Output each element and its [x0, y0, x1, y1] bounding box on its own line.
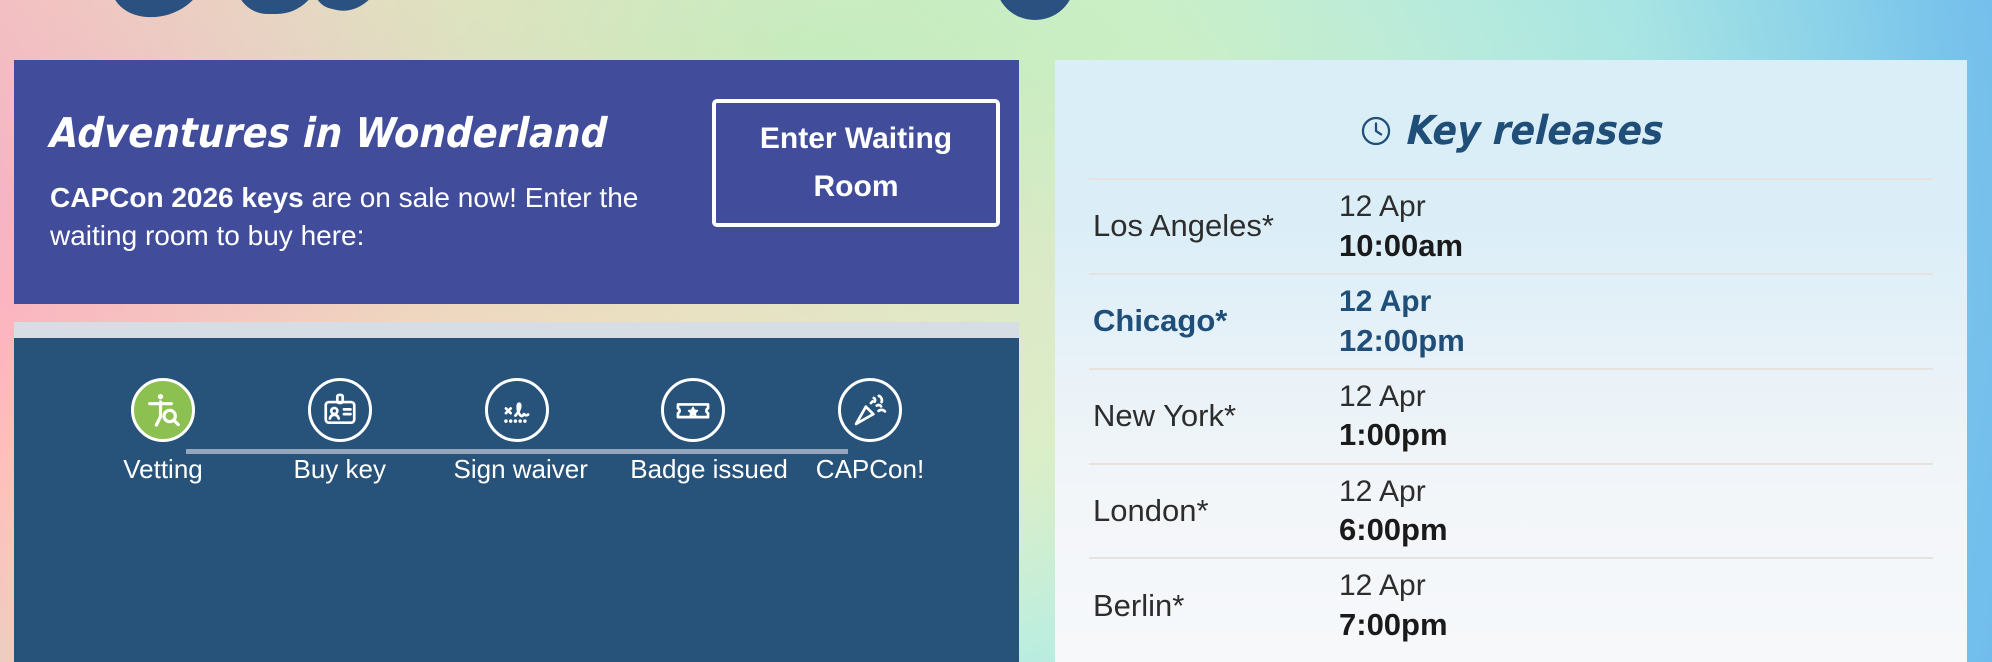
enter-waiting-room-button[interactable]: Enter Waiting Room: [712, 99, 1000, 227]
step-buy-key-label: Buy key: [277, 454, 403, 485]
step-badge-issued-label: Badge issued: [630, 454, 756, 485]
party-popper-icon: [851, 391, 889, 429]
promo-banner: Adventures in Wonderland CAPCon 2026 key…: [14, 60, 1019, 304]
promo-body-bold: CAPCon 2026 keys: [50, 182, 304, 213]
release-when: 12 Apr 6:00pm: [1339, 473, 1448, 550]
promo-body: CAPCon 2026 keys are on sale now! Enter …: [50, 179, 650, 255]
release-city: New York*: [1089, 398, 1339, 434]
table-row[interactable]: New York* 12 Apr 1:00pm: [1089, 368, 1933, 463]
step-buy-key[interactable]: Buy key: [277, 378, 403, 485]
key-releases-panel: Key releases Los Angeles* 12 Apr 10:00am…: [1055, 60, 1967, 662]
key-releases-title: Key releases: [1406, 108, 1665, 154]
step-buy-key-circle: [308, 378, 372, 442]
table-row[interactable]: Los Angeles* 12 Apr 10:00am: [1089, 178, 1933, 273]
release-when: 12 Apr 7:00pm: [1339, 567, 1448, 644]
release-time: 10:00am: [1339, 226, 1463, 265]
promo-title: Adventures in Wonderland: [49, 109, 655, 157]
release-city: Los Angeles*: [1089, 208, 1339, 244]
step-badge-issued[interactable]: Badge issued: [630, 378, 756, 485]
release-when: 12 Apr 1:00pm: [1339, 378, 1448, 455]
id-badge-icon: [321, 391, 359, 429]
progress-steps-panel: Vetting Buy key: [14, 338, 1019, 662]
accessibility-search-icon: [143, 390, 183, 430]
step-sign-waiver[interactable]: Sign waiver: [454, 378, 580, 485]
release-date: 12 Apr: [1339, 188, 1463, 226]
release-when: 12 Apr 10:00am: [1339, 188, 1463, 265]
release-date: 12 Apr: [1339, 567, 1448, 605]
release-time: 1:00pm: [1339, 415, 1448, 454]
step-vetting[interactable]: Vetting: [100, 378, 226, 485]
ticket-star-icon: [674, 391, 712, 429]
step-sign-waiver-circle: [485, 378, 549, 442]
progress-steps-row: Vetting Buy key: [14, 378, 1019, 485]
release-date: 12 Apr: [1339, 473, 1448, 511]
table-row[interactable]: Chicago* 12 Apr 12:00pm: [1089, 273, 1933, 368]
release-when: 12 Apr 12:00pm: [1339, 283, 1465, 360]
release-time: 7:00pm: [1339, 605, 1448, 644]
step-badge-issued-circle: [661, 378, 725, 442]
release-time: 12:00pm: [1339, 321, 1465, 360]
step-vetting-label: Vetting: [100, 454, 226, 485]
table-row[interactable]: London* 12 Apr 6:00pm: [1089, 463, 1933, 558]
signature-icon: [498, 391, 536, 429]
panel-divider: [14, 322, 1019, 338]
release-date: 12 Apr: [1339, 283, 1465, 321]
page-root: Adventures in Wonderland CAPCon 2026 key…: [0, 0, 1992, 662]
key-releases-header: Key releases: [1089, 60, 1933, 178]
step-capcon-circle: [838, 378, 902, 442]
step-vetting-circle: [131, 378, 195, 442]
step-sign-waiver-label: Sign waiver: [454, 454, 580, 485]
release-city: Berlin*: [1089, 588, 1339, 624]
promo-copy: Adventures in Wonderland CAPCon 2026 key…: [14, 109, 654, 255]
release-city: London*: [1089, 493, 1339, 529]
release-city: Chicago*: [1089, 303, 1339, 339]
release-time: 6:00pm: [1339, 510, 1448, 549]
table-row[interactable]: Berlin* 12 Apr 7:00pm: [1089, 557, 1933, 652]
release-date: 12 Apr: [1339, 378, 1448, 416]
step-capcon[interactable]: CAPCon!: [807, 378, 933, 485]
step-capcon-label: CAPCon!: [807, 454, 933, 485]
clock-icon: [1359, 114, 1393, 148]
